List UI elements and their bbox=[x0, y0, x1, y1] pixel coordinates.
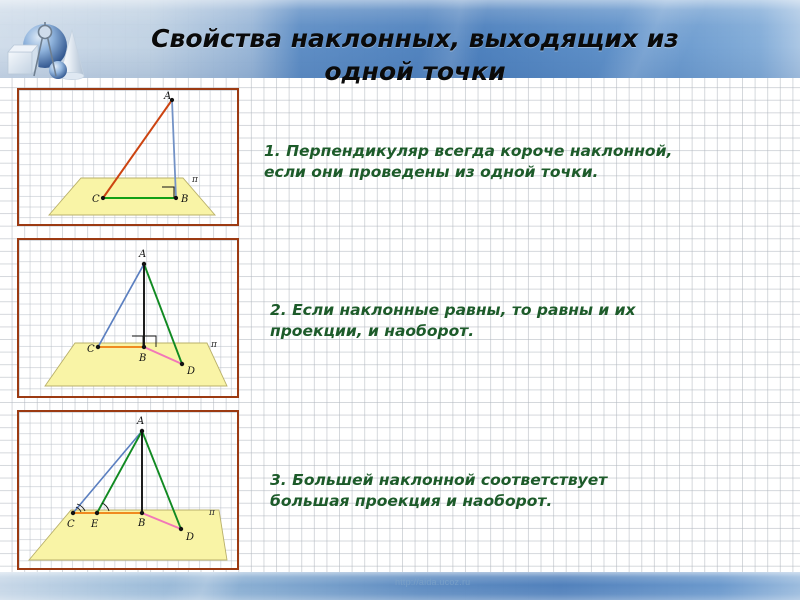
point-B-label: B bbox=[137, 518, 145, 529]
point-C-dot bbox=[101, 196, 105, 200]
figure-2-frame[interactable]: A B C D π bbox=[17, 238, 239, 398]
figure-3-frame[interactable]: A B C E D π bbox=[17, 410, 239, 570]
title-line-2: одной точки bbox=[70, 55, 760, 88]
segment-AE bbox=[97, 431, 142, 513]
point-C-label: C bbox=[87, 344, 95, 355]
statement-3-line-2: большая проекция и наоборот. bbox=[270, 491, 770, 512]
segment-AC bbox=[73, 431, 142, 513]
plane-polygon bbox=[45, 343, 227, 386]
point-D-dot bbox=[179, 527, 183, 531]
point-E-dot bbox=[95, 511, 99, 515]
point-C-dot bbox=[71, 511, 75, 515]
figure-2-diagram: A B C D π bbox=[19, 240, 237, 396]
point-C-dot bbox=[96, 345, 100, 349]
plane-label: π bbox=[210, 340, 218, 350]
point-A-dot bbox=[140, 429, 144, 433]
point-B-label: B bbox=[138, 353, 146, 364]
statement-3-line-1: 3. Большей наклонной соответствует bbox=[270, 470, 770, 491]
statement-1: 1. Перпендикуляр всегда короче наклонной… bbox=[264, 141, 784, 183]
page-title: Свойства наклонных, выходящих из одной т… bbox=[70, 22, 760, 88]
statement-3: 3. Большей наклонной соответствует больш… bbox=[270, 470, 770, 512]
footer-diagonal-highlight bbox=[20, 572, 380, 600]
segment-AC bbox=[98, 264, 144, 347]
statement-2-line-2: проекции, и наоборот. bbox=[270, 321, 770, 342]
statement-1-line-1: 1. Перпендикуляр всегда короче наклонной… bbox=[264, 141, 784, 162]
plane-polygon bbox=[29, 510, 227, 560]
plane-label: π bbox=[191, 175, 199, 185]
plane-polygon bbox=[49, 178, 215, 215]
figure-3-diagram: A B C E D π bbox=[19, 412, 237, 568]
point-B-dot bbox=[174, 196, 178, 200]
slide-canvas: Свойства наклонных, выходящих из одной т… bbox=[0, 0, 800, 600]
plane-label: π bbox=[208, 508, 216, 518]
cube-shape bbox=[8, 45, 38, 74]
point-D-label: D bbox=[186, 366, 195, 377]
figure-1-diagram: A B C π bbox=[19, 90, 237, 224]
point-E-label: E bbox=[90, 519, 99, 530]
title-line-1: Свойства наклонных, выходящих из bbox=[70, 22, 760, 55]
point-D-label: D bbox=[185, 532, 194, 543]
statement-2-line-1: 2. Если наклонные равны, то равны и их bbox=[270, 300, 770, 321]
point-B-label: B bbox=[180, 194, 188, 205]
point-A-label: A bbox=[136, 416, 144, 427]
point-A-label: A bbox=[138, 249, 146, 260]
point-A-label: A bbox=[163, 91, 171, 102]
statement-1-line-2: если они проведены из одной точки. bbox=[264, 162, 784, 183]
point-D-dot bbox=[180, 362, 184, 366]
small-sphere-shape bbox=[49, 61, 67, 79]
point-B-dot bbox=[142, 345, 146, 349]
watermark-link[interactable]: http://aida.ucoz.ru bbox=[395, 577, 470, 587]
point-A-dot bbox=[142, 262, 146, 266]
point-B-dot bbox=[140, 511, 144, 515]
statement-2: 2. Если наклонные равны, то равны и их п… bbox=[270, 300, 770, 342]
point-C-label: C bbox=[67, 519, 75, 530]
figure-1-frame[interactable]: A B C π bbox=[17, 88, 239, 226]
point-C-label: C bbox=[92, 194, 100, 205]
